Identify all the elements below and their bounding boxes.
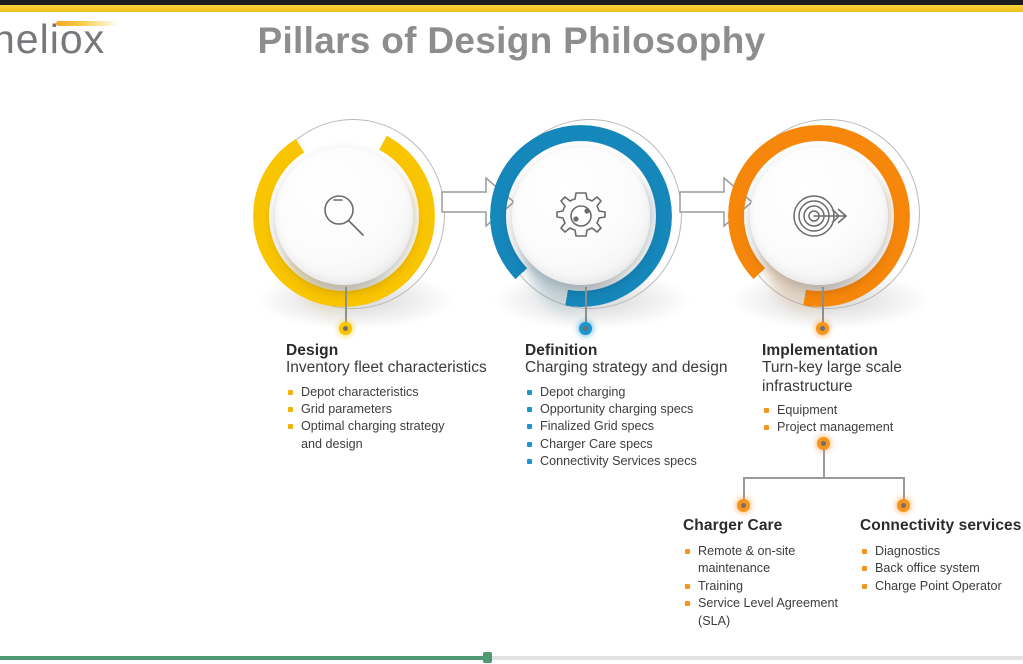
- bullet-dot-icon: [685, 601, 690, 606]
- pillar-text-definition: Definition Charging strategy and design …: [525, 342, 745, 471]
- subtree-dot-charger-care: [737, 499, 750, 512]
- pillar-bullet-list: Equipment Project management: [762, 402, 992, 436]
- subbranch-bullet-list: Remote & on-site maintenance Training Se…: [683, 543, 863, 629]
- bullet-dot-icon: [527, 390, 532, 395]
- bullet-dot-icon: [764, 408, 769, 413]
- subbranch-bullet-list: Diagnostics Back office system Charge Po…: [860, 543, 1023, 594]
- list-item-label: Depot charging: [540, 385, 625, 399]
- subtree-horizontal-line: [743, 477, 904, 479]
- list-item: Training: [683, 578, 863, 594]
- progress-handle[interactable]: [483, 652, 492, 663]
- slide-canvas: heliox Pillars of Design Philosophy: [0, 0, 1023, 664]
- pillar-bullet-list: Depot characteristics Grid parameters Op…: [286, 384, 501, 453]
- connector-stem-2: [585, 287, 587, 327]
- list-item: Depot characteristics: [286, 384, 501, 400]
- target-arrow-icon: [786, 185, 852, 247]
- bullet-dot-icon: [862, 584, 867, 589]
- list-item: Diagnostics: [860, 543, 1023, 559]
- list-item-label: maintenance: [698, 561, 770, 575]
- bullet-dot-icon: [288, 424, 293, 429]
- bullet-dot-icon: [288, 390, 293, 395]
- list-item-label: Finalized Grid specs: [540, 419, 654, 433]
- list-item-continuation: (SLA): [683, 613, 863, 629]
- list-item: Remote & on-site: [683, 543, 863, 559]
- list-item: Connectivity Services specs: [525, 453, 745, 469]
- list-item-label: Depot characteristics: [301, 385, 419, 399]
- connector-dot-1: [339, 322, 352, 335]
- list-item: Charger Care specs: [525, 436, 745, 452]
- subbranch-charger-care: Charger Care Remote & on-site maintenanc…: [683, 517, 863, 630]
- pillar-heading: Design: [286, 342, 501, 359]
- list-item-label: and design: [301, 437, 363, 451]
- node-disc-1: [275, 147, 413, 285]
- pillar-subheading: Turn-key large scale infrastructure: [762, 359, 992, 396]
- pillar-heading: Definition: [525, 342, 745, 359]
- list-item: Back office system: [860, 560, 1023, 576]
- bullet-dot-icon: [527, 407, 532, 412]
- bullet-dot-icon: [862, 549, 867, 554]
- list-item: Grid parameters: [286, 401, 501, 417]
- pillar-subheading: Inventory fleet characteristics: [286, 359, 501, 378]
- connector-dot-3: [816, 322, 829, 335]
- bullet-dot-icon: [288, 407, 293, 412]
- list-item: Equipment: [762, 402, 992, 418]
- pillar-text-implementation: Implementation Turn-key large scale infr…: [762, 342, 992, 437]
- connector-stem-3: [822, 287, 824, 327]
- connector-dot-2: [579, 322, 592, 335]
- subtree-vertical-line: [823, 449, 825, 478]
- pillar-subheading: Charging strategy and design: [525, 359, 745, 378]
- list-item-continuation: and design: [286, 436, 501, 452]
- list-item-label: Diagnostics: [875, 544, 940, 558]
- connector-stem-1: [345, 287, 347, 327]
- pillar-node-design[interactable]: [253, 115, 453, 315]
- bullet-dot-icon: [527, 442, 532, 447]
- pillar-heading: Implementation: [762, 342, 992, 359]
- list-item-label: Grid parameters: [301, 402, 392, 416]
- bullet-dot-icon: [685, 549, 690, 554]
- list-item: Depot charging: [525, 384, 745, 400]
- subbranch-heading: Charger Care: [683, 517, 863, 534]
- list-item-label: Service Level Agreement: [698, 596, 838, 610]
- progress-fill: [0, 656, 486, 660]
- list-item: Service Level Agreement: [683, 595, 863, 611]
- bullet-dot-icon: [527, 424, 532, 429]
- brand-gold-bar: [0, 5, 1023, 12]
- list-item-label: Remote & on-site: [698, 544, 795, 558]
- list-item-label: Connectivity Services specs: [540, 454, 697, 468]
- pillar-node-implementation[interactable]: [728, 115, 928, 315]
- pillar-text-design: Design Inventory fleet characteristics D…: [286, 342, 501, 453]
- bullet-dot-icon: [862, 566, 867, 571]
- list-item-continuation: maintenance: [683, 560, 863, 576]
- list-item: Project management: [762, 419, 992, 435]
- page-title: Pillars of Design Philosophy: [0, 20, 1023, 62]
- list-item: Finalized Grid specs: [525, 418, 745, 434]
- list-item-label: Charge Point Operator: [875, 579, 1002, 593]
- list-item-label: Equipment: [777, 403, 837, 417]
- gear-icon: [550, 185, 612, 247]
- list-item: Charge Point Operator: [860, 578, 1023, 594]
- list-item-label: Training: [698, 579, 743, 593]
- list-item-label: Back office system: [875, 561, 980, 575]
- bullet-dot-icon: [527, 459, 532, 464]
- bullet-dot-icon: [764, 425, 769, 430]
- list-item-label: Opportunity charging specs: [540, 402, 693, 416]
- subtree-dot-connectivity: [897, 499, 910, 512]
- list-item-label: Project management: [777, 420, 893, 434]
- magnifier-icon: [313, 185, 375, 247]
- bullet-dot-icon: [685, 584, 690, 589]
- pillar-bullet-list: Depot charging Opportunity charging spec…: [525, 384, 745, 470]
- subbranch-heading: Connectivity services: [860, 517, 1023, 534]
- list-item: Opportunity charging specs: [525, 401, 745, 417]
- pillar-node-definition[interactable]: [490, 115, 690, 315]
- list-item: Optimal charging strategy: [286, 418, 501, 434]
- list-item-label: (SLA): [698, 614, 730, 628]
- list-item-label: Optimal charging strategy: [301, 419, 445, 433]
- subbranch-connectivity-services: Connectivity services Diagnostics Back o…: [860, 517, 1023, 595]
- node-disc-3: [750, 147, 888, 285]
- list-item-label: Charger Care specs: [540, 437, 653, 451]
- node-disc-2: [512, 147, 650, 285]
